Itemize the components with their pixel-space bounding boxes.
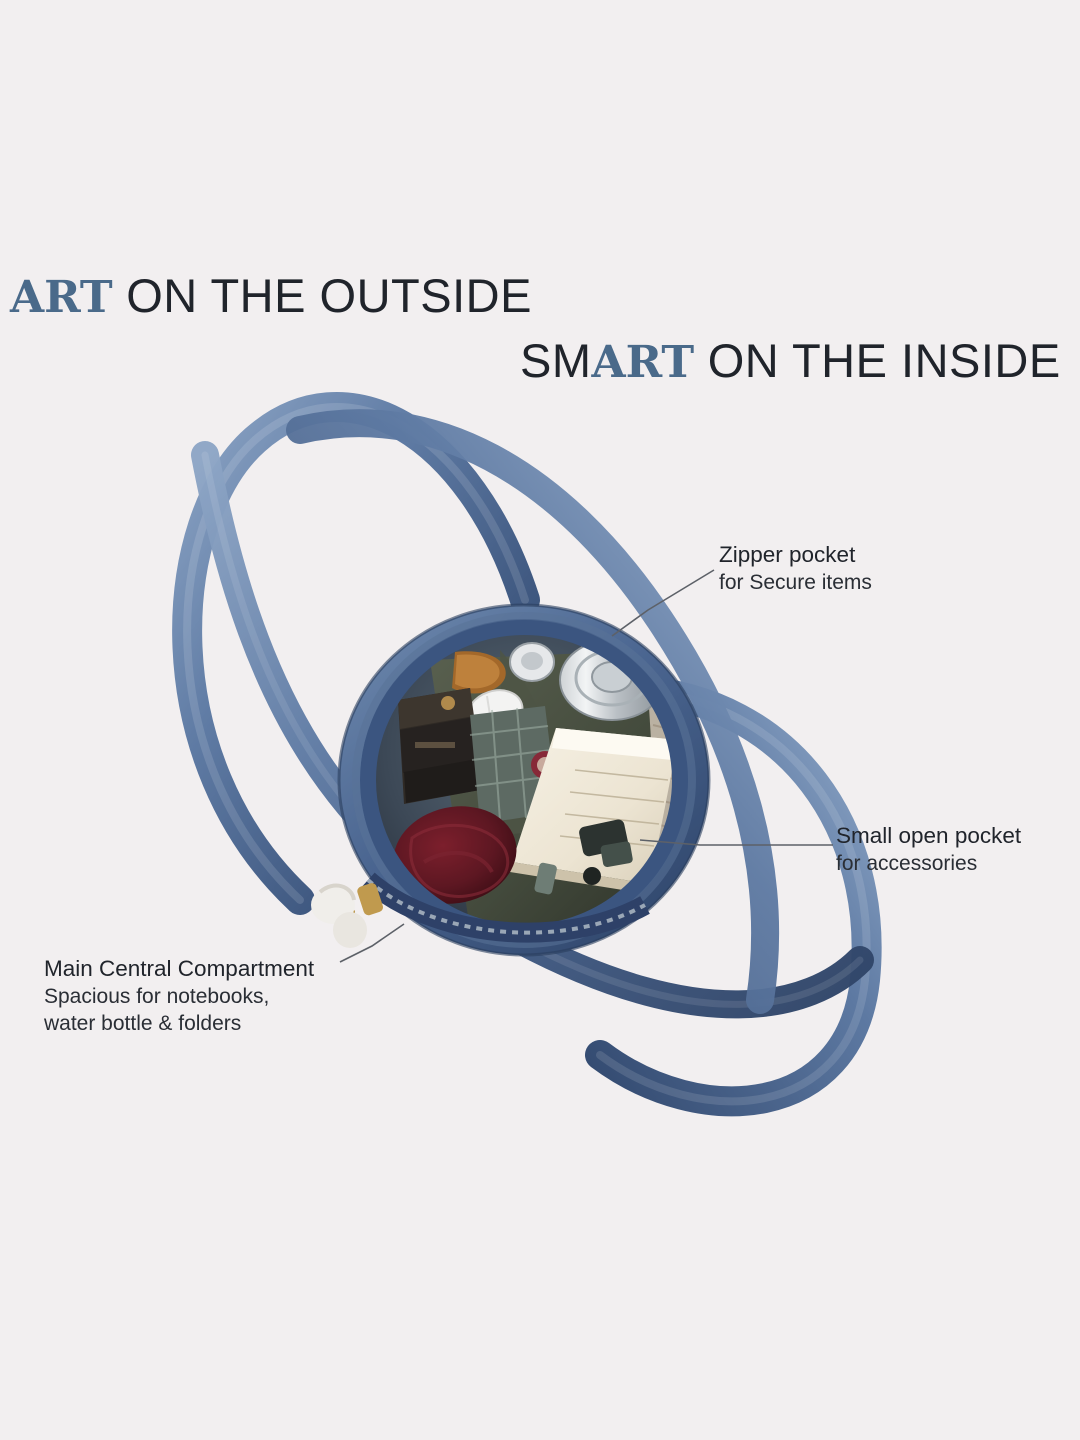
infographic-canvas: ART ON THE OUTSIDE SMART ON THE INSIDE Z… <box>0 0 1080 1440</box>
callout-main-sub2: water bottle & folders <box>44 1011 314 1038</box>
leather-pouch <box>398 688 480 804</box>
callout-zipper-title: Zipper pocket <box>719 541 872 570</box>
headline-accent-art-2: ART <box>592 337 695 388</box>
headline-pre-2: SM <box>520 334 592 387</box>
headline-rest-1: ON THE OUTSIDE <box>113 269 532 322</box>
callout-small-pocket-sub: for accessories <box>836 851 1021 878</box>
callout-main-sub: Spacious for notebooks, <box>44 984 314 1011</box>
callout-zipper-pocket: Zipper pocket for Secure items <box>719 541 872 597</box>
callout-small-pocket-title: Small open pocket <box>836 822 1021 851</box>
tote-bag-illustration <box>0 0 1080 1440</box>
headline-accent-art-1: ART <box>10 272 113 323</box>
headline-line-1: ART ON THE OUTSIDE <box>10 268 532 323</box>
headline-line-2: SMART ON THE INSIDE <box>520 333 1061 388</box>
callout-zipper-sub: for Secure items <box>719 570 872 597</box>
small-tin <box>510 643 554 681</box>
callout-main-compartment: Main Central Compartment Spacious for no… <box>44 955 314 1038</box>
callout-small-open-pocket: Small open pocket for accessories <box>836 822 1021 878</box>
headline-rest-2: ON THE INSIDE <box>694 334 1061 387</box>
callout-main-title: Main Central Compartment <box>44 955 314 984</box>
